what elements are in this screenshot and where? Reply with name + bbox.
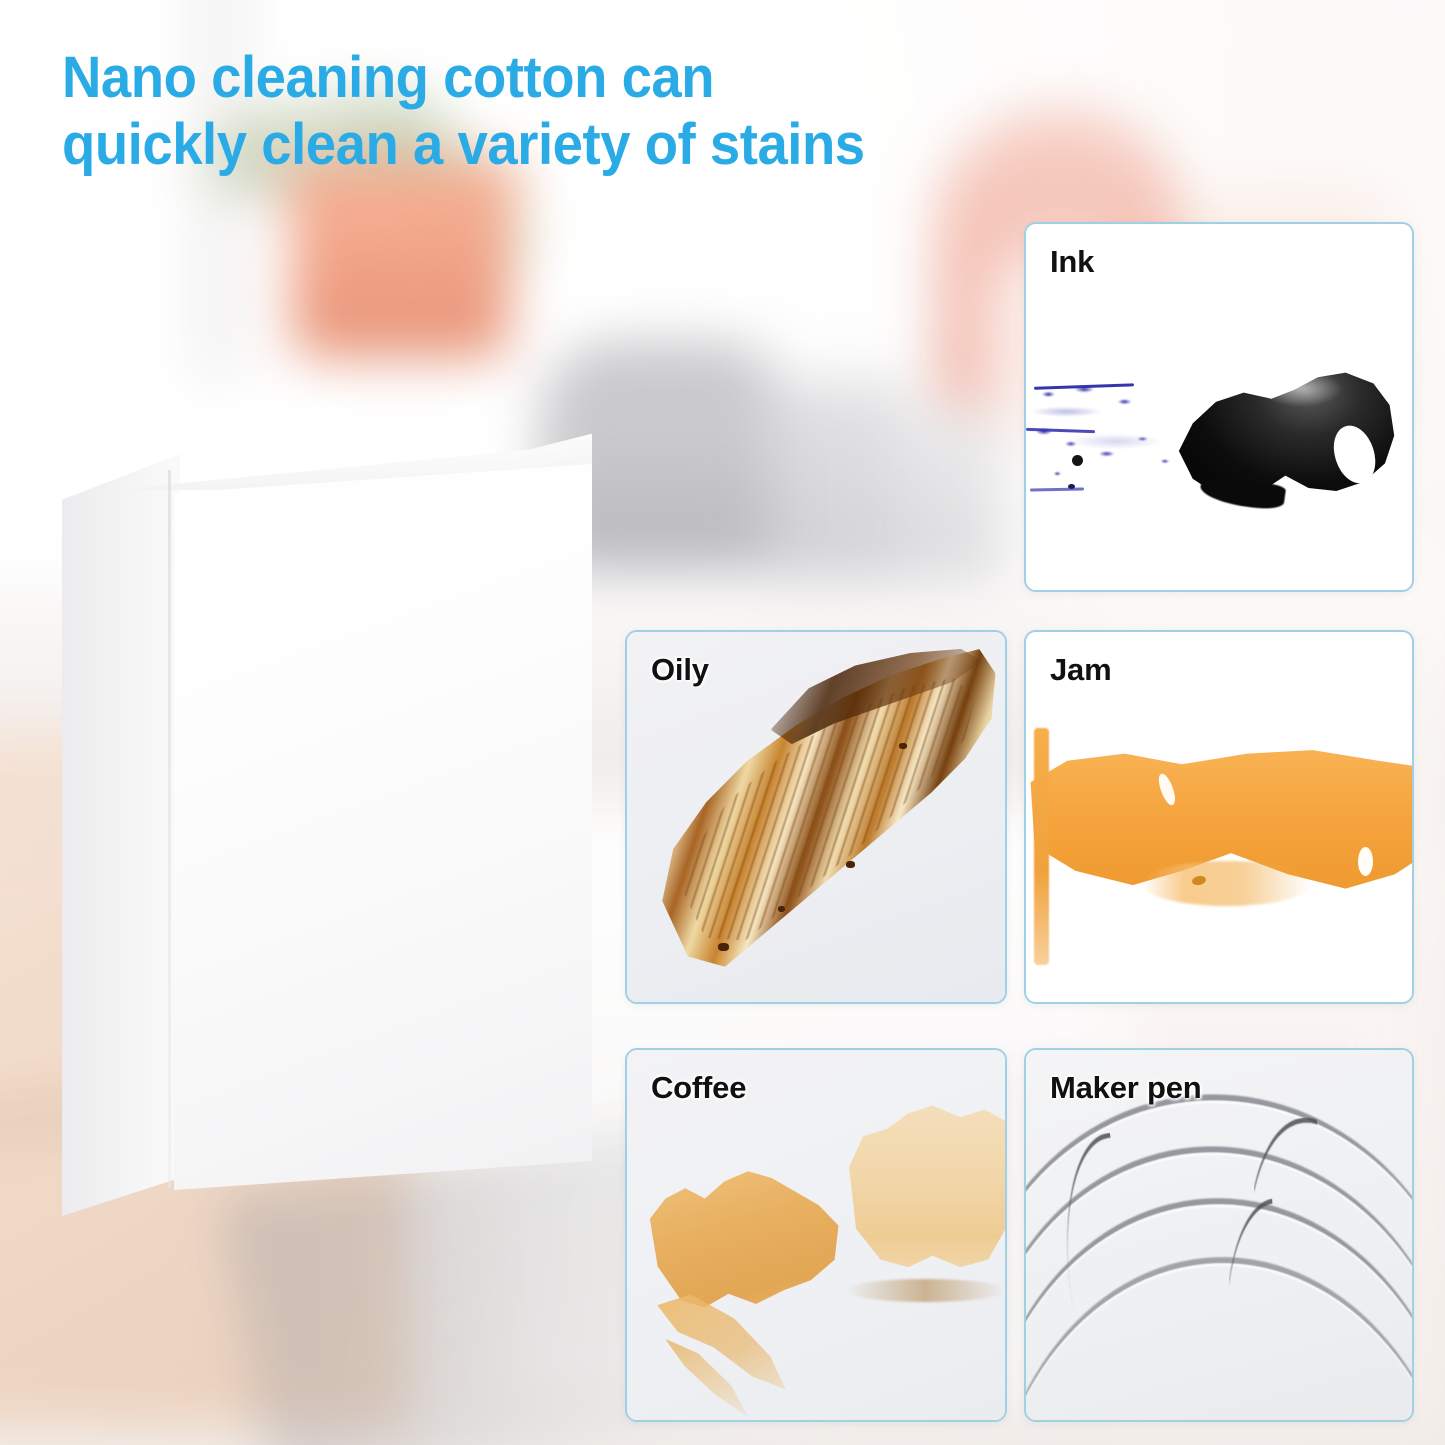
stain-card-label: Jam: [1050, 652, 1111, 688]
oily-speck: [778, 906, 785, 912]
stain-card-ink[interactable]: Ink: [1024, 222, 1414, 592]
stain-card-maker-pen[interactable]: Maker pen: [1024, 1048, 1414, 1422]
stain-card-jam[interactable]: Jam: [1024, 630, 1414, 1004]
stain-card-label: Ink: [1050, 244, 1094, 280]
jam-drip: [1034, 728, 1049, 965]
coffee-stain-edge: [846, 1279, 1005, 1301]
sponge-side-face: [62, 454, 180, 1216]
stain-card-coffee[interactable]: Coffee: [625, 1048, 1007, 1422]
ink-streak: [1030, 487, 1084, 491]
stain-card-oily[interactable]: Oily: [625, 630, 1007, 1004]
ink-blob-highlight: [1258, 370, 1343, 407]
oily-speck: [899, 743, 907, 749]
stain-card-label: Coffee: [651, 1070, 746, 1106]
grey-container: [870, 410, 1000, 590]
page-title: Nano cleaning cotton can quickly clean a…: [62, 44, 1030, 179]
jam-smudge: [1142, 861, 1312, 905]
grey-cookware-lid: [555, 340, 775, 402]
sponge-front-face: [174, 464, 592, 1190]
oily-speck: [718, 943, 729, 951]
stain-card-label: Maker pen: [1050, 1070, 1202, 1106]
stain-card-label: Oily: [651, 652, 709, 688]
ink-dot: [1072, 455, 1083, 466]
product-sponge: [62, 430, 592, 1220]
product-marketing-image: Nano cleaning cotton can quickly clean a…: [0, 0, 1445, 1445]
sponge-edge: [168, 470, 171, 1188]
